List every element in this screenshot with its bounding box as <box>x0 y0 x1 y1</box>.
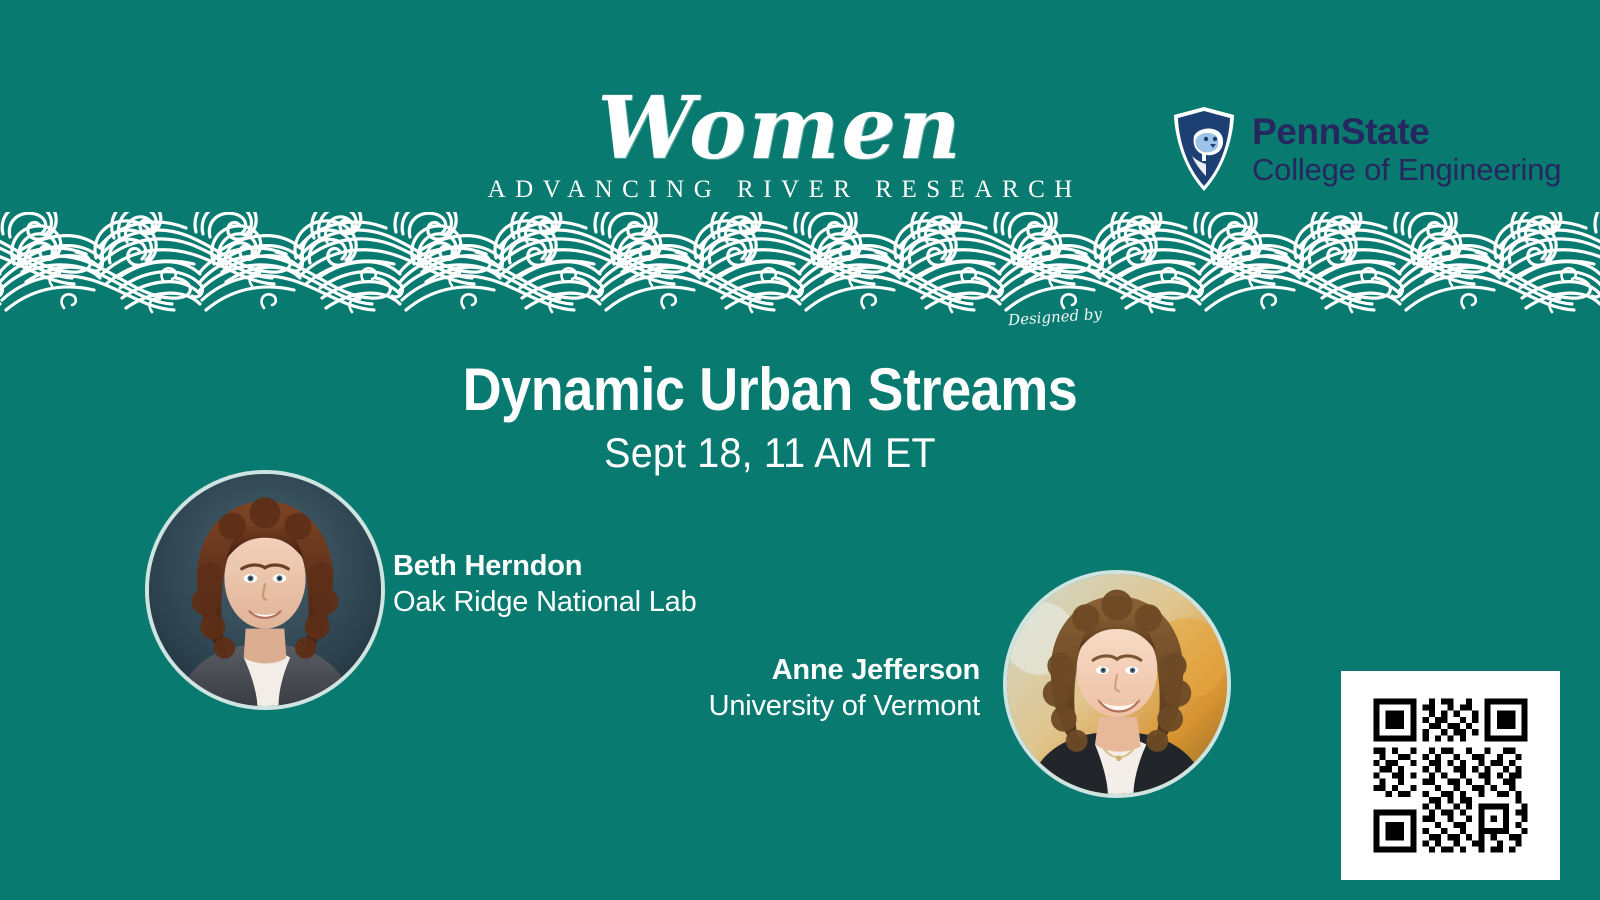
pennstate-unit: College of Engineering <box>1252 154 1561 185</box>
flyer-canvas: Women ADVANCING RIVER RESEARCH PennState… <box>0 0 1600 900</box>
pennstate-wordmark: PennState College of Engineering <box>1252 113 1561 185</box>
wave-pattern-graphic <box>0 212 1600 320</box>
speaker-affiliation: University of Vermont <box>600 688 980 726</box>
speaker-info-beth-herndon: Beth Herndon Oak Ridge National Lab <box>393 548 697 622</box>
speaker-affiliation: Oak Ridge National Lab <box>393 584 697 622</box>
qr-code-panel[interactable] <box>1341 671 1560 880</box>
speaker-name: Anne Jefferson <box>600 652 980 688</box>
portrait-beth-herndon <box>149 474 381 706</box>
brand-script-wordmark: Women <box>470 88 1090 170</box>
speaker-photo-beth-herndon <box>145 470 385 710</box>
portrait-anne-jefferson <box>1007 574 1227 794</box>
brand-tagline: ADVANCING RIVER RESEARCH <box>470 176 1090 204</box>
talk-title-block: Dynamic Urban Streams Sept 18, 11 AM ET <box>0 358 1540 477</box>
pennstate-logo[interactable]: PennState College of Engineering <box>1172 106 1561 192</box>
talk-title: Dynamic Urban Streams <box>77 358 1463 421</box>
pennstate-shield-lion-icon <box>1172 106 1236 192</box>
speaker-name: Beth Herndon <box>393 548 697 584</box>
speaker-info-anne-jefferson: Anne Jefferson University of Vermont <box>600 652 980 726</box>
qr-code[interactable] <box>1361 686 1540 865</box>
wave-pattern-border <box>0 212 1600 320</box>
speaker-photo-anne-jefferson <box>1003 570 1231 798</box>
pennstate-name: PennState <box>1252 113 1561 150</box>
brand-lockup: Women ADVANCING RIVER RESEARCH <box>470 88 1090 204</box>
